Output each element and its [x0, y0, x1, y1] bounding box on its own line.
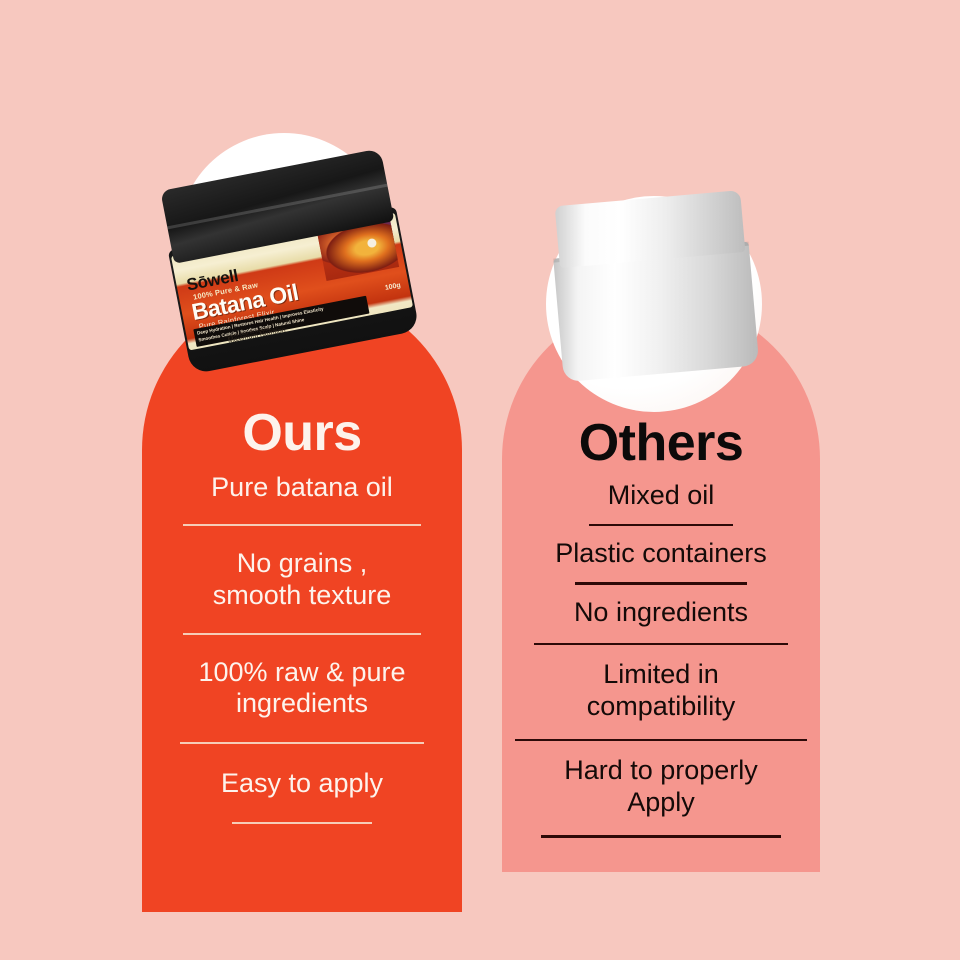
list-item: No grains , smooth texture: [142, 526, 462, 635]
others-heading: Others: [502, 413, 820, 473]
ours-feature-label: Easy to apply: [142, 768, 462, 800]
plain-white-jar-image: [549, 190, 760, 382]
ours-feature-list: Pure batana oil No grains , smooth textu…: [142, 470, 462, 824]
others-feature-label: Mixed oil: [502, 480, 820, 512]
others-feature-label: Hard to properly Apply: [502, 755, 820, 819]
list-item: Hard to properly Apply: [502, 741, 820, 837]
ours-feature-label: 100% raw & pure ingredients: [142, 657, 462, 721]
others-feature-label: No ingredients: [502, 597, 820, 629]
ours-heading: Ours: [142, 403, 462, 463]
jar-net-weight: 100g: [384, 282, 401, 292]
list-item: 100% raw & pure ingredients: [142, 635, 462, 745]
list-item: Plastic containers: [502, 526, 820, 584]
list-item: Pure batana oil: [142, 470, 462, 526]
divider: [232, 822, 372, 824]
list-item: Limited in compatibility: [502, 645, 820, 741]
ours-feature-label: No grains , smooth texture: [142, 548, 462, 612]
list-item: Mixed oil: [502, 478, 820, 526]
others-feature-label: Limited in compatibility: [502, 659, 820, 723]
others-feature-list: Mixed oil Plastic containers No ingredie…: [502, 478, 820, 838]
list-item: Easy to apply: [142, 744, 462, 824]
divider: [541, 835, 781, 838]
comparison-infographic: Sōwell 100% Pure & Raw Batana Oil Pure R…: [0, 0, 960, 960]
others-feature-label: Plastic containers: [502, 538, 820, 570]
ours-feature-label: Pure batana oil: [142, 472, 462, 504]
list-item: No ingredients: [502, 585, 820, 645]
